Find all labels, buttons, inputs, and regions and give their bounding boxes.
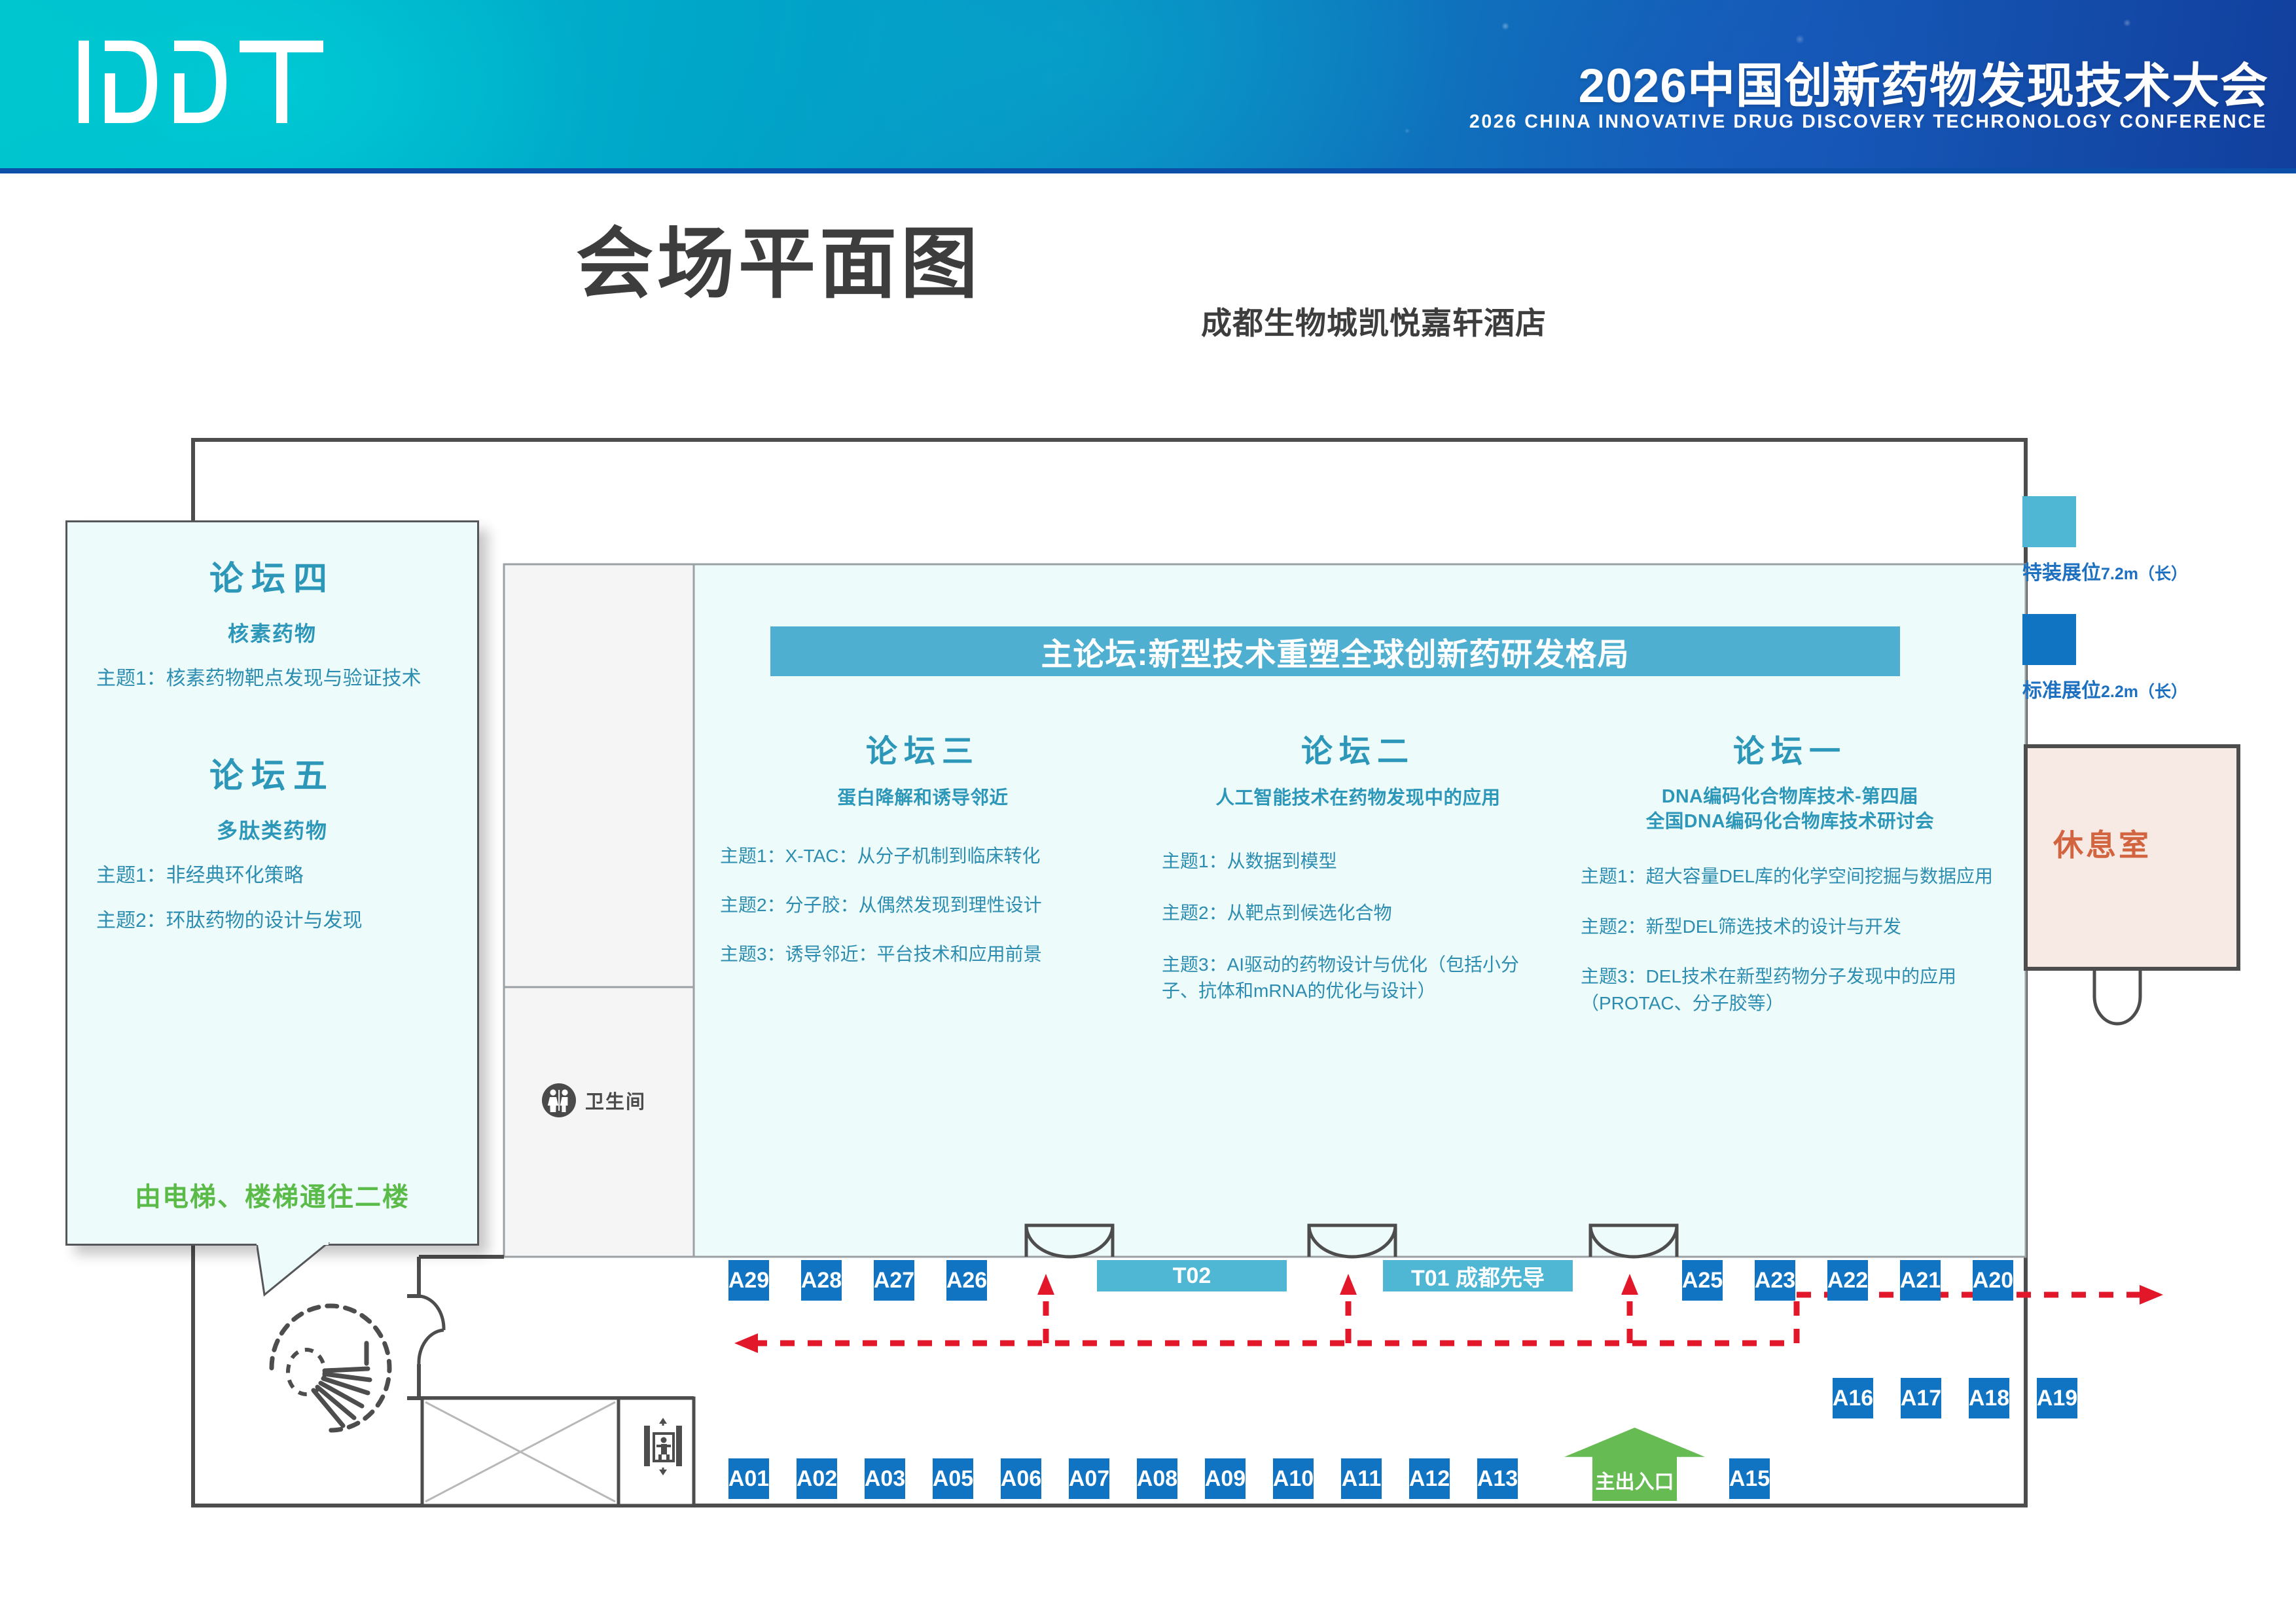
- booth-A21[interactable]: A21: [1900, 1260, 1941, 1301]
- forum-5-topic-2: 主题2：环肽药物的设计与发现: [96, 907, 448, 935]
- booth-A02[interactable]: A02: [797, 1458, 837, 1499]
- booth-A01[interactable]: A01: [728, 1458, 769, 1499]
- callout-tail: [257, 1242, 330, 1295]
- booth-A23[interactable]: A23: [1755, 1260, 1795, 1301]
- hall-doors: [1026, 1225, 1677, 1257]
- forum-2-topics: 主题1：从数据到模型 主题2：从靶点到候选化合物 主题3：AI驱动的药物设计与优…: [1162, 848, 1554, 1004]
- utility-room: [422, 1398, 619, 1506]
- legend-swatch-standard: [2022, 614, 2076, 665]
- booth-A27[interactable]: A27: [874, 1260, 914, 1301]
- forum-1-title: 论坛一: [1581, 725, 2000, 771]
- restroom-label: 卫生间: [585, 1087, 646, 1114]
- booth-A28[interactable]: A28: [801, 1260, 842, 1301]
- booth-A29[interactable]: A29: [728, 1260, 769, 1301]
- forum-5-subtitle: 多肽类药物: [96, 814, 448, 844]
- booth-T02[interactable]: T02: [1097, 1260, 1287, 1291]
- booth-A11[interactable]: A11: [1341, 1458, 1382, 1499]
- booth-A22[interactable]: A22: [1827, 1260, 1868, 1301]
- forum-3-topics: 主题1：X-TAC：从分子机制到临床转化 主题2：分子胶：从偶然发现到理性设计 …: [720, 843, 1126, 967]
- service-block: [504, 564, 694, 1257]
- legend-label-special-dim: 7.2m（长）: [2101, 565, 2187, 583]
- page-header: 2026中国创新药物发现技术大会 2026 CHINA INNOVATIVE D…: [0, 0, 2296, 173]
- forum-5-title: 论坛五: [96, 748, 448, 797]
- forum-4-subtitle: 核素药物: [96, 617, 448, 647]
- booth-A12[interactable]: A12: [1409, 1458, 1450, 1499]
- forum-1-subtitle: DNA编码化合物库技术-第四届 全国DNA编码化合物库技术研讨会: [1581, 784, 2000, 835]
- rest-room-label: 休息室: [2053, 821, 2151, 865]
- booth-A25[interactable]: A25: [1682, 1260, 1723, 1301]
- spiral-staircase: [272, 1306, 389, 1430]
- forum-2-topic-2: 主题2：从靶点到候选化合物: [1162, 900, 1554, 927]
- legend-label-special-text: 特装展位: [2022, 562, 2101, 584]
- restroom-marker: 卫生间: [542, 1083, 646, 1117]
- forum-1-topic-1: 主题1：超大容量DEL库的化学空间挖掘与数据应用: [1581, 863, 2000, 890]
- forum-2-title: 论坛二: [1162, 725, 1554, 771]
- forum-3-subtitle: 蛋白降解和诱导邻近: [720, 785, 1126, 810]
- booth-A13[interactable]: A13: [1477, 1458, 1518, 1499]
- main-forum-banner: 主论坛:新型技术重塑全球创新药研发格局: [770, 626, 1900, 676]
- legend-label-standard-text: 标准展位: [2022, 680, 2101, 702]
- forum-column-3: 论坛三 蛋白降解和诱导邻近 主题1：X-TAC：从分子机制到临床转化 主题2：分…: [720, 725, 1126, 990]
- restroom-icon: [542, 1083, 576, 1117]
- forum-3-topic-2: 主题2：分子胶：从偶然发现到理性设计: [720, 892, 1126, 919]
- legend-item-standard: 标准展位2.2m（长）: [2022, 614, 2187, 703]
- forum-column-2: 论坛二 人工智能技术在药物发现中的应用 主题1：从数据到模型 主题2：从靶点到候…: [1162, 725, 1554, 1030]
- iddt-logo: [77, 39, 418, 124]
- forum-3-topic-3: 主题3：诱导邻近：平台技术和应用前景: [720, 941, 1126, 968]
- forum-4-title: 论坛四: [96, 551, 448, 600]
- booth-A05[interactable]: A05: [933, 1458, 973, 1499]
- page-title: 会场平面图: [576, 226, 982, 303]
- elevator-icon: [644, 1418, 682, 1475]
- booth-A07[interactable]: A07: [1069, 1458, 1109, 1499]
- booth-A09[interactable]: A09: [1205, 1458, 1246, 1499]
- legend-label-standard-dim: 2.2m（长）: [2101, 683, 2187, 701]
- forum-1-topic-3: 主题3：DEL技术在新型药物分子发现中的应用（PROTAC、分子胶等）: [1581, 964, 2000, 1017]
- legend-label-special: 特装展位7.2m（长）: [2022, 556, 2187, 585]
- stairs-elevator-note: 由电梯、楼梯通往二楼: [67, 1176, 477, 1214]
- forum-callout-panel: 论坛四 核素药物 主题1：核素药物靶点发现与验证技术 论坛五 多肽类药物 主题1…: [65, 520, 479, 1246]
- forum-1-topic-2: 主题2：新型DEL筛选技术的设计与开发: [1581, 914, 2000, 941]
- booth-A06[interactable]: A06: [1001, 1458, 1041, 1499]
- booth-A10[interactable]: A10: [1273, 1458, 1314, 1499]
- legend-swatch-special: [2022, 496, 2076, 547]
- booth-A16[interactable]: A16: [1833, 1378, 1873, 1418]
- booth-A20[interactable]: A20: [1973, 1260, 2013, 1301]
- header-bottom-strip: [0, 168, 2296, 173]
- booth-A17[interactable]: A17: [1901, 1378, 1941, 1418]
- booth-A08[interactable]: A08: [1137, 1458, 1177, 1499]
- booth-A19[interactable]: A19: [2037, 1378, 2077, 1418]
- header-title-zh: 2026中国创新药物发现技术大会: [1579, 47, 2269, 117]
- legend-item-special: 特装展位7.2m（长）: [2022, 496, 2187, 585]
- main-forum-banner-text: 主论坛:新型技术重塑全球创新药研发格局: [1041, 628, 1630, 674]
- forum-1-topics: 主题1：超大容量DEL库的化学空间挖掘与数据应用 主题2：新型DEL筛选技术的设…: [1581, 863, 2000, 1017]
- booth-A18[interactable]: A18: [1969, 1378, 2009, 1418]
- booth-T01[interactable]: T01 成都先导: [1383, 1260, 1573, 1291]
- legend-label-standard: 标准展位2.2m（长）: [2022, 674, 2187, 703]
- forum-3-topic-1: 主题1：X-TAC：从分子机制到临床转化: [720, 843, 1126, 870]
- elevator-room: [619, 1398, 694, 1506]
- forum-5-topic-1: 主题1：非经典环化策略: [96, 861, 448, 890]
- forum-2-topic-3: 主题3：AI驱动的药物设计与优化（包括小分子、抗体和mRNA的优化与设计）: [1162, 952, 1554, 1005]
- forum-2-subtitle: 人工智能技术在药物发现中的应用: [1162, 785, 1554, 810]
- booth-A26[interactable]: A26: [946, 1260, 987, 1301]
- forum-column-1: 论坛一 DNA编码化合物库技术-第四届 全国DNA编码化合物库技术研讨会 主题1…: [1581, 725, 2000, 1040]
- booth-A15[interactable]: A15: [1729, 1458, 1770, 1499]
- legend: 特装展位7.2m（长） 标准展位2.2m（长）: [2022, 496, 2187, 703]
- header-title-en: 2026 CHINA INNOVATIVE DRUG DISCOVERY TEC…: [1469, 111, 2267, 133]
- forum-4-topic-1: 主题1：核素药物靶点发现与验证技术: [96, 664, 448, 693]
- venue-floorplan-page: 2026中国创新药物发现技术大会 2026 CHINA INNOVATIVE D…: [0, 0, 2296, 1624]
- booth-A03[interactable]: A03: [865, 1458, 905, 1499]
- forum-2-topic-1: 主题1：从数据到模型: [1162, 848, 1554, 875]
- forum-3-title: 论坛三: [720, 725, 1126, 771]
- main-entrance-marker[interactable]: 主出入口: [1564, 1428, 1705, 1501]
- page-subtitle: 成都生物城凯悦嘉轩酒店: [1201, 298, 1547, 343]
